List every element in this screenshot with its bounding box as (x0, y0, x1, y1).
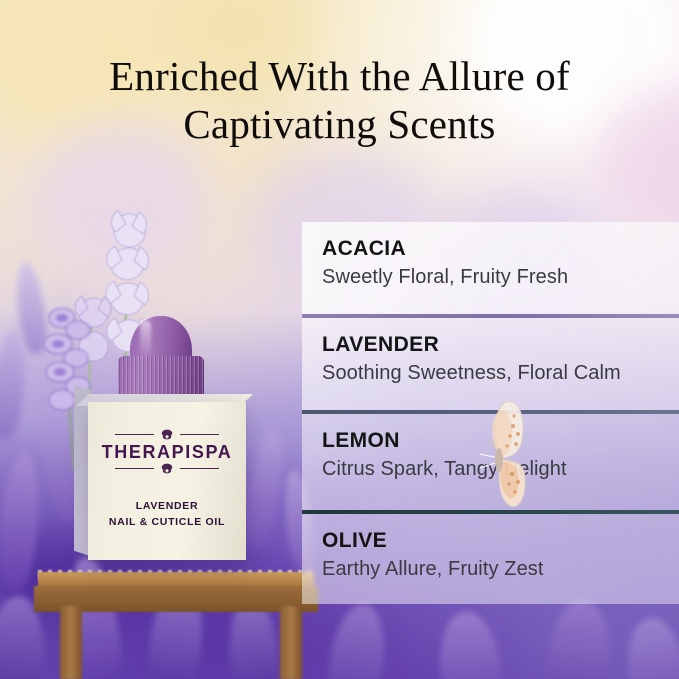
scent-name: OLIVE (322, 528, 679, 554)
headline-line-1: Enriched With the Allure of (0, 52, 679, 100)
headline-line-2: Captivating Scents (0, 100, 679, 148)
brand-name: THERAPISPA (102, 443, 233, 461)
scent-name: ACACIA (322, 236, 679, 262)
marketing-image: THERAPISPA LAVENDER NAIL & CUTICLE OIL E… (0, 0, 679, 679)
scent-row-lavender[interactable]: LAVENDER Soothing Sweetness, Floral Calm (302, 318, 679, 410)
fleuron-knot-icon (157, 463, 177, 474)
ornament-rule-right (180, 468, 219, 469)
scent-row-olive[interactable]: OLIVE Earthy Allure, Fruity Zest (302, 514, 679, 604)
fleuron-ornament-icon (115, 428, 219, 440)
scent-description: Sweetly Floral, Fruity Fresh (322, 264, 679, 290)
scent-description: Citrus Spark, Tangy Delight (322, 456, 679, 482)
scent-description: Earthy Allure, Fruity Zest (322, 556, 679, 582)
scent-list: ACACIA Sweetly Floral, Fruity Fresh LAVE… (302, 222, 679, 604)
scent-description: Soothing Sweetness, Floral Calm (322, 360, 679, 386)
scent-row-lemon[interactable]: LEMON Citrus Spark, Tangy Delight (302, 414, 679, 510)
scent-name: LEMON (322, 428, 679, 454)
fleuron-ornament-icon-lower (115, 462, 219, 474)
product-bottle: THERAPISPA LAVENDER NAIL & CUTICLE OIL (88, 316, 246, 578)
ornament-rule-left (115, 468, 154, 469)
bottle-cap-highlight (140, 320, 151, 358)
product-variant: LAVENDER (109, 498, 225, 514)
product-type: NAIL & CUTICLE OIL (109, 514, 225, 530)
page-title: Enriched With the Allure of Captivating … (0, 52, 679, 149)
fleuron-knot-icon (157, 429, 177, 440)
scent-name: LAVENDER (322, 332, 679, 358)
ornament-rule-right (180, 434, 219, 435)
product-description: LAVENDER NAIL & CUTICLE OIL (109, 498, 225, 531)
bottle-label: THERAPISPA LAVENDER NAIL & CUTICLE OIL (98, 414, 236, 552)
scent-row-acacia[interactable]: ACACIA Sweetly Floral, Fruity Fresh (302, 222, 679, 314)
ornament-rule-left (115, 434, 154, 435)
